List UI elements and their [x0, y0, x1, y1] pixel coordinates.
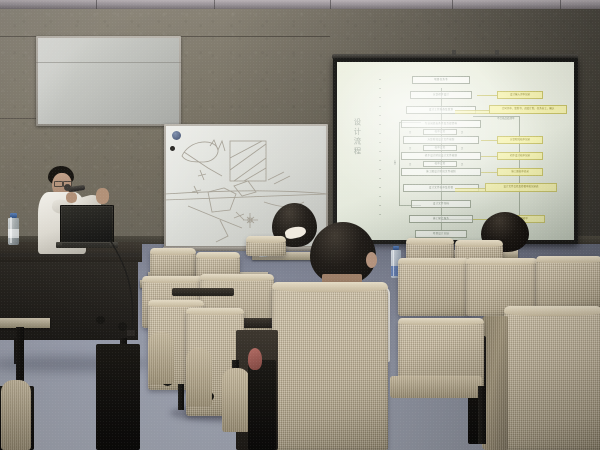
laptop-lid	[60, 205, 114, 245]
whiteboard-left-glare	[38, 38, 179, 124]
chair-top-piping	[504, 306, 600, 316]
bottle-highlight	[10, 217, 12, 243]
chair-backrest	[504, 306, 600, 450]
chair-far-seat-1	[148, 332, 174, 384]
chair-top-piping	[406, 238, 454, 245]
chair-far-base-shadow	[96, 344, 140, 450]
presenter-hand-left	[66, 192, 77, 203]
chair-leg-4	[478, 386, 486, 444]
whiteboard-left-seam	[36, 62, 181, 63]
chair-top-piping	[246, 236, 286, 243]
chair-mid-3[interactable]	[398, 258, 470, 316]
chair-top-piping	[150, 248, 196, 255]
jacket-glimpse	[248, 348, 262, 370]
chair-backrest	[398, 258, 470, 316]
chair-caster-3	[118, 322, 127, 331]
chair-top-piping	[148, 300, 204, 307]
microphone-head	[64, 184, 71, 191]
laptop-screen-back	[62, 207, 112, 243]
chair-mid-5[interactable]	[536, 256, 600, 308]
screen-vignette	[337, 62, 574, 240]
chair-back-1[interactable]	[150, 248, 196, 278]
chair-far-seat-3	[222, 368, 250, 432]
bottle-highlight	[393, 250, 395, 276]
chair-front-center[interactable]	[272, 282, 388, 450]
whiteboard-magnet-black[interactable]	[170, 146, 175, 151]
chair-backrest	[272, 282, 388, 450]
chair-front-midright-seat	[390, 376, 482, 398]
chair-center-base-shadow	[248, 360, 276, 450]
chair-top-piping	[196, 252, 240, 259]
chair-leg-2	[178, 384, 184, 410]
chair-far-seat-4	[1, 380, 31, 450]
floor-power-outlet	[127, 330, 135, 336]
front-desk-left	[0, 318, 50, 328]
chair-top-piping	[200, 274, 274, 281]
chair-top-piping	[142, 276, 204, 283]
chair-top-piping	[455, 240, 503, 247]
projection-screen-bracket-left	[452, 50, 456, 56]
laptop-keyboard[interactable]	[62, 243, 110, 246]
projection-screen-frame: 设计流程	[333, 58, 578, 244]
chair-back-5[interactable]	[246, 236, 286, 256]
chair-backrest	[536, 256, 600, 308]
projection-screen-surface: 设计流程	[337, 62, 574, 240]
presenter-hand-right	[96, 188, 109, 204]
chair-top-piping	[398, 258, 470, 265]
desk-edge-mid-left	[172, 288, 234, 296]
chair-top-piping	[536, 256, 600, 263]
projection-screen-bracket-right	[495, 50, 499, 56]
chair-top-piping	[272, 282, 388, 292]
whiteboard-left	[36, 36, 181, 126]
chair-front-right[interactable]	[504, 306, 600, 450]
whiteboard-magnet-blue[interactable]	[172, 131, 181, 140]
presenter-glasses-left	[54, 181, 63, 187]
student-front-center-ear	[366, 252, 377, 268]
front-desk-left-leg	[16, 327, 24, 387]
chair-far-seat-2	[186, 348, 212, 406]
chair-top-piping	[466, 258, 538, 265]
chair-top-piping	[398, 318, 484, 325]
lecture-hall-scene: 设计流程	[0, 0, 600, 450]
chair-top-piping	[186, 308, 244, 315]
chair-caster-4	[96, 316, 105, 324]
water-bottle-presenter[interactable]	[8, 213, 19, 245]
